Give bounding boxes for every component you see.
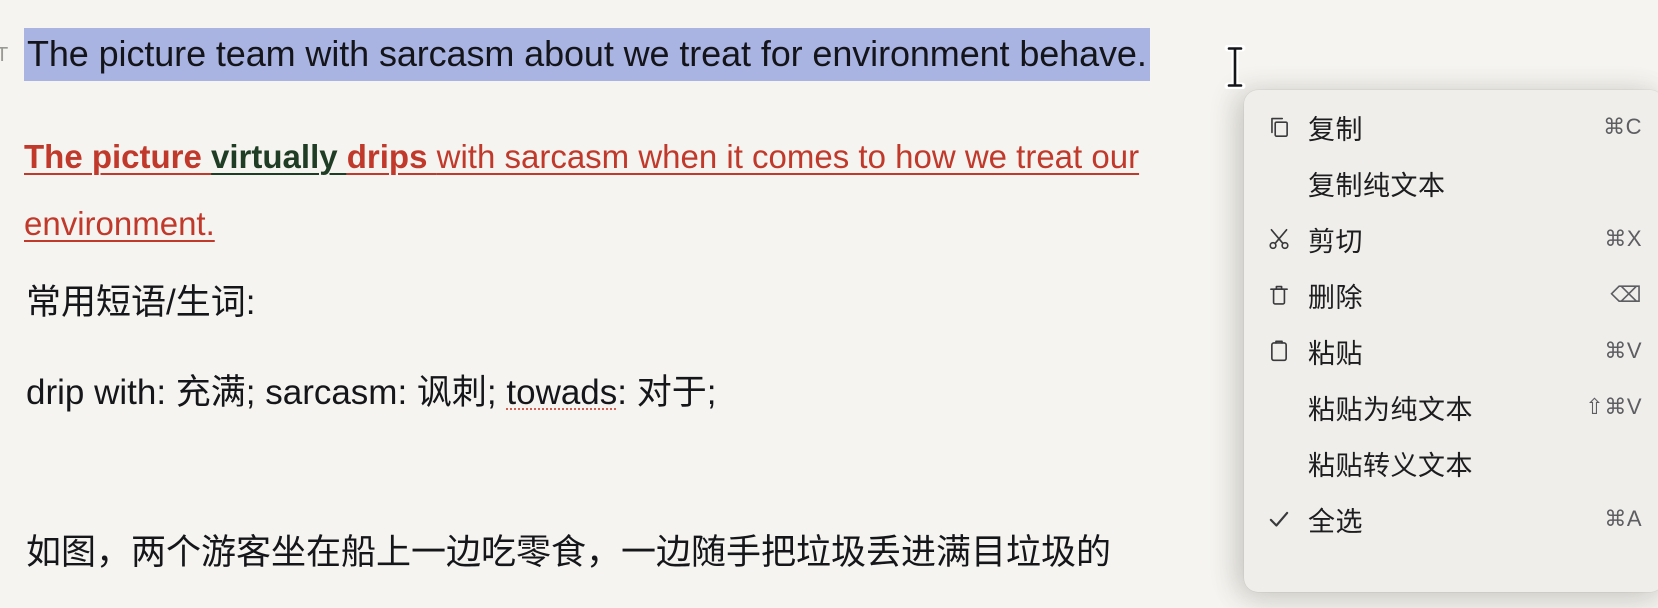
correction-segment-rest: with sarcasm when it comes to how we tre… bbox=[437, 138, 1139, 175]
menu-item-label: 复制 bbox=[1308, 108, 1585, 147]
menu-item-label: 粘贴为纯文本 bbox=[1308, 388, 1567, 427]
correction-segment-the-picture: The picture bbox=[24, 138, 211, 175]
menu-item-7[interactable]: 粘贴转义文本 bbox=[1244, 435, 1658, 491]
menu-item-label: 粘贴 bbox=[1308, 332, 1586, 371]
menu-item-4[interactable]: 删除⌫ bbox=[1244, 267, 1658, 323]
menu-item-2[interactable]: 复制纯文本 bbox=[1244, 155, 1658, 211]
menu-item-8[interactable]: 全选⌘A bbox=[1244, 491, 1658, 547]
chinese-paragraph[interactable]: 如图，两个游客坐在船上一边吃零食，一边随手把垃圾丢进满目垃圾的 bbox=[26, 524, 1111, 575]
correction-segment-virtually: virtually bbox=[211, 138, 347, 175]
menu-item-shortcut: ⌘A bbox=[1586, 506, 1642, 532]
misspelled-word[interactable]: towads bbox=[506, 373, 617, 412]
menu-item-shortcut: ⌫ bbox=[1592, 282, 1642, 308]
menu-item-shortcut: ⌘X bbox=[1586, 226, 1642, 252]
vocabulary-line[interactable]: drip with: 充满; sarcasm: 讽刺; towads: 对于; bbox=[26, 364, 716, 415]
correction-segment-drips: drips bbox=[347, 138, 437, 175]
menu-item-shortcut: ⌘V bbox=[1586, 338, 1642, 364]
scissors-icon bbox=[1266, 226, 1308, 252]
menu-item-1[interactable]: 复制⌘C bbox=[1244, 99, 1658, 155]
check-icon bbox=[1266, 506, 1308, 532]
app-screen: T The picture team with sarcasm about we… bbox=[0, 0, 1658, 608]
menu-item-5[interactable]: 粘贴⌘V bbox=[1244, 323, 1658, 379]
menu-item-label: 复制纯文本 bbox=[1308, 164, 1624, 203]
menu-item-3[interactable]: 剪切⌘X bbox=[1244, 211, 1658, 267]
context-menu[interactable]: 复制⌘C复制纯文本剪切⌘X删除⌫粘贴⌘V粘贴为纯文本⇧⌘V粘贴转义文本全选⌘A bbox=[1244, 90, 1658, 592]
menu-item-shortcut: ⌘C bbox=[1585, 114, 1642, 140]
menu-item-shortcut: ⇧⌘V bbox=[1567, 394, 1642, 420]
original-sentence-line[interactable]: The picture team with sarcasm about we t… bbox=[24, 33, 1150, 75]
menu-item-label: 剪切 bbox=[1308, 220, 1586, 259]
vocabulary-heading: 常用短语/生词: bbox=[26, 274, 255, 325]
trash-icon bbox=[1266, 282, 1308, 308]
selected-text-highlight[interactable]: The picture team with sarcasm about we t… bbox=[24, 28, 1150, 81]
menu-item-label: 粘贴转义文本 bbox=[1308, 444, 1624, 483]
gutter-marker-text: T bbox=[0, 44, 8, 67]
menu-item-6[interactable]: 粘贴为纯文本⇧⌘V bbox=[1244, 379, 1658, 435]
vocab-prefix-text: drip with: 充满; sarcasm: 讽刺; bbox=[26, 373, 506, 412]
menu-item-label: 删除 bbox=[1308, 276, 1592, 315]
menu-item-label: 全选 bbox=[1308, 500, 1586, 539]
clipboard-icon bbox=[1266, 338, 1308, 364]
vocab-suffix-text: : 对于; bbox=[617, 373, 716, 412]
copy-icon bbox=[1266, 114, 1308, 140]
